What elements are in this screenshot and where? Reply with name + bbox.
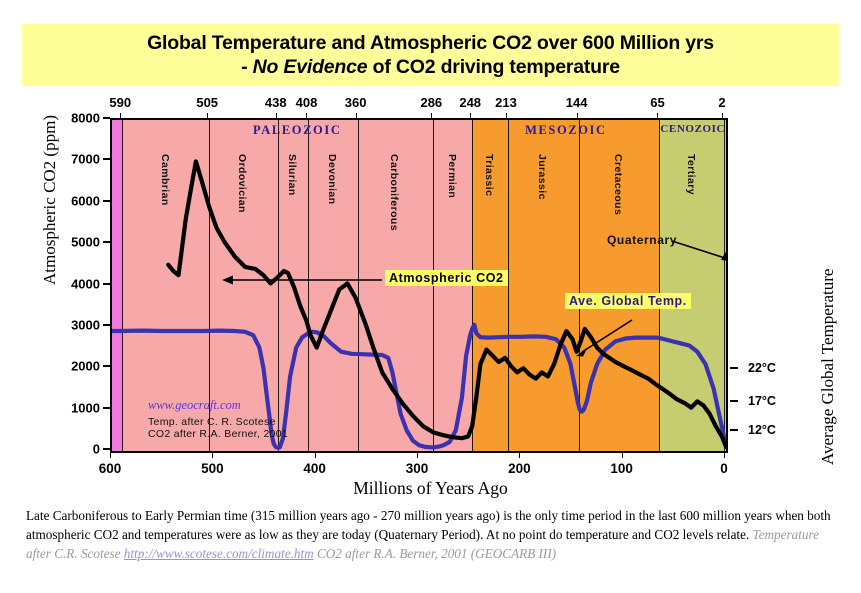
y-axis-left-tick-3000: 3000 [40,317,100,332]
y-axis-left-tick-5000: 5000 [40,235,100,250]
title-line-2: - No Evidence of CO2 driving temperature [241,56,620,78]
title-line-2-prefix: - [241,56,253,78]
y-axis-left-tickmark-3000 [103,324,110,326]
y-axis-left-tickmark-0 [103,448,110,450]
x-axis-tick-0: 0 [720,461,728,476]
y-axis-left-tick-4000: 4000 [40,276,100,291]
top-axis-tick-2: 2 [718,95,725,110]
x-axis-tick-500: 500 [201,461,224,476]
y-axis-left-tick-2000: 2000 [40,359,100,374]
x-axis-tick-400: 400 [303,461,326,476]
top-axis-tick-438: 438 [265,95,287,110]
y-axis-right-title: Average Global Temperature [818,269,838,465]
y-axis-left-tick-8000: 8000 [40,111,100,126]
y-axis-left-tickmark-7000 [103,158,110,160]
caption-source-link[interactable]: http://www.scotese.com/climate.htm [124,546,314,561]
y-axis-left-tick-1000: 1000 [40,400,100,415]
y-axis-left-tickmark-4000 [103,283,110,285]
y-axis-left-tick-0: 0 [40,442,100,457]
y-axis-right-tick-22C: 22°C [748,361,776,375]
x-axis-tick-600: 600 [99,461,122,476]
x-axis-title: Millions of Years Ago [0,478,861,499]
quaternary-label: Quaternary [607,233,677,247]
top-axis-tick-65: 65 [650,95,664,110]
top-axis-tick-286: 286 [420,95,442,110]
top-axis-tick-213: 213 [495,95,517,110]
top-axis-tick-144: 144 [566,95,588,110]
temp-callout-label: Ave. Global Temp. [565,293,691,309]
top-axis-tick-590: 590 [109,95,131,110]
co2-callout-label: Atmospheric CO2 [385,270,508,286]
y-axis-left-tickmark-1000 [103,407,110,409]
y-axis-right-tick-17C: 17°C [748,394,776,408]
y-axis-right-tickmark-22C [730,367,738,369]
y-axis-left-tickmark-8000 [103,117,110,119]
y-axis-right-tickmark-12C [730,429,738,431]
title-line-1: Global Temperature and Atmospheric CO2 o… [147,32,714,54]
top-axis-tick-360: 360 [345,95,367,110]
y-axis-left-tick-6000: 6000 [40,193,100,208]
y-axis-left-tickmark-2000 [103,365,110,367]
plot-area: CambrianOrdovicianSilurianDevonianCarbon… [110,118,728,453]
caption-main: Late Carboniferous to Early Permian time… [26,508,831,542]
y-axis-left-tickmark-5000 [103,241,110,243]
watermark: www.geocraft.com Temp. after C. R. Scote… [148,398,288,440]
x-axis-tick-100: 100 [610,461,633,476]
y-axis-right-tickmark-17C [730,400,738,402]
title-banner: Global Temperature and Atmospheric CO2 o… [22,24,839,86]
top-axis-tick-408: 408 [296,95,318,110]
top-axis-tick-248: 248 [459,95,481,110]
x-axis-tick-300: 300 [406,461,429,476]
top-axis-tick-505: 505 [196,95,218,110]
y-axis-left-tick-7000: 7000 [40,152,100,167]
title-line-2-emphasis: No Evidence [253,56,368,78]
x-axis-tick-200: 200 [508,461,531,476]
title-line-2-suffix: of CO2 driving temperature [367,56,619,78]
watermark-site: www.geocraft.com [148,398,288,413]
caption: Late Carboniferous to Early Permian time… [26,507,838,564]
y-axis-right-tick-12C: 12°C [748,423,776,437]
watermark-temp-source: Temp. after C. R. Scotese [148,416,288,428]
caption-source-suffix: CO2 after R.A. Berner, 2001 (GEOCARB III… [314,546,556,561]
watermark-co2-source: CO2 after R.A. Berner, 2001 [148,428,288,440]
y-axis-left-tickmark-6000 [103,200,110,202]
chart-container: Atmospheric CO2 (ppm) Average Global Tem… [0,95,861,500]
